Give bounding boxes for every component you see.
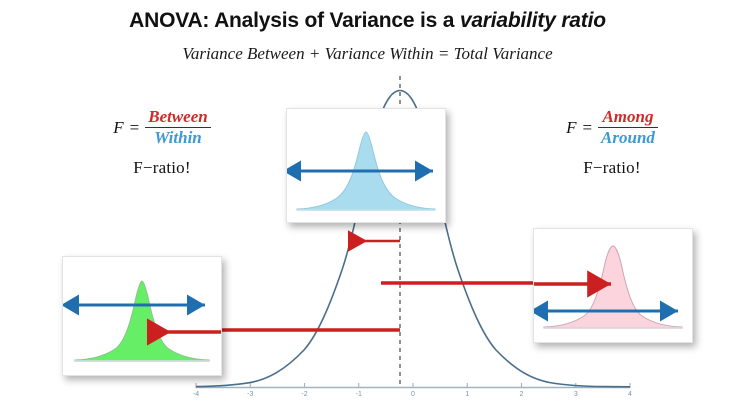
x-tick-label: 1: [465, 391, 469, 398]
x-tick-label: -2: [301, 391, 307, 398]
formula-right: F = Among Around F−ratio!: [512, 108, 712, 178]
formula-right-fraction: Among Around: [598, 108, 658, 147]
anova-diagram: -4-3-2-101234 F = Between Within F−ratio…: [0, 0, 735, 400]
formula-left-caption: F−ratio!: [62, 158, 262, 178]
x-tick-label: 0: [411, 391, 415, 398]
group-one-distribution-curve: [75, 281, 209, 361]
group-one-chart: [63, 257, 221, 375]
total-variance-chart: [287, 109, 445, 222]
group-two-distribution-curve: [544, 246, 682, 328]
formula-right-row: F = Among Around: [512, 108, 712, 147]
formula-right-numerator: Among: [599, 108, 656, 127]
x-tick-label: -4: [193, 391, 199, 398]
formula-right-variable: F: [566, 118, 576, 138]
page-subtitle: Variance Between + Variance Within = Tot…: [0, 44, 735, 64]
x-tick-label: -1: [356, 391, 362, 398]
formula-left: F = Between Within F−ratio!: [62, 108, 262, 178]
group-two-chart: [534, 229, 692, 342]
formula-left-fraction: Between Within: [145, 108, 211, 147]
card-group-one[interactable]: [62, 256, 222, 376]
x-tick-label: 4: [628, 391, 632, 398]
x-tick-label: -3: [247, 391, 253, 398]
page-title-emphasis: variability ratio: [460, 9, 606, 32]
formula-left-variable: F: [113, 118, 123, 138]
page-title-main: ANOVA: Analysis of Variance is a: [129, 9, 460, 32]
card-total-variance[interactable]: [286, 108, 446, 223]
card-group-two[interactable]: [533, 228, 693, 343]
formula-right-caption: F−ratio!: [512, 158, 712, 178]
x-tick-label: 2: [520, 391, 524, 398]
formula-left-denominator: Within: [151, 128, 205, 147]
formula-right-equals: =: [582, 118, 592, 138]
formula-left-row: F = Between Within: [62, 108, 262, 147]
page-title: ANOVA: Analysis of Variance is a variabi…: [0, 9, 735, 33]
x-tick-label: 3: [574, 391, 578, 398]
formula-left-numerator: Between: [145, 108, 211, 127]
x-axis-tick-labels: -4-3-2-101234: [193, 391, 632, 398]
formula-left-equals: =: [130, 118, 140, 138]
formula-right-denominator: Around: [598, 128, 658, 147]
